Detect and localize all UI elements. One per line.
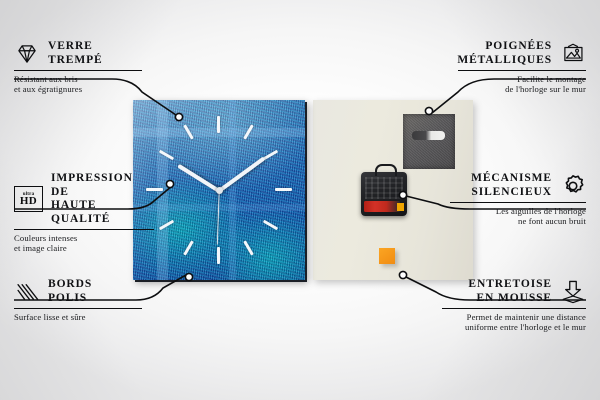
hour-hand [177, 164, 220, 193]
second-hand [216, 191, 219, 245]
callout-mecanisme-silencieux[interactable]: MÉCANISMESILENCIEUX Les aiguilles de l'h… [450, 172, 586, 226]
callout-title: BORDSPOLIS [48, 278, 92, 305]
callout-subtitle: Résistant aux bris et aux égratignures [14, 74, 142, 95]
clock-tick [183, 240, 194, 255]
silent-quartz-mechanism [361, 172, 407, 216]
callout-subtitle: Facilite le montage de l'horloge sur le … [458, 74, 586, 95]
callout-rule [14, 308, 142, 309]
callout-rule [458, 70, 586, 71]
callout-rule [14, 70, 142, 71]
clock-back-panel [313, 100, 473, 280]
clock-tick [243, 124, 254, 139]
hanging-frame-icon [560, 41, 586, 67]
callout-bords-polis[interactable]: BORDSPOLIS Surface lisse et sûre [14, 278, 142, 322]
callout-title: IMPRESSION DEHAUTE QUALITÉ [51, 172, 154, 226]
clock-tick [275, 188, 292, 191]
callout-title: MÉCANISMESILENCIEUX [471, 172, 552, 199]
battery [364, 201, 400, 212]
clock-tick [183, 124, 194, 139]
foam-spacer [379, 248, 395, 264]
metal-hanger-plate [403, 114, 455, 169]
clock-tick [217, 116, 220, 133]
callout-subtitle: Permet de maintenir une distance uniform… [442, 312, 586, 333]
callout-impression-haute-qualite[interactable]: ultra HD IMPRESSION DEHAUTE QUALITÉ Coul… [14, 172, 154, 253]
battery-terminal [397, 203, 404, 211]
callout-subtitle: Couleurs intenses et image claire [14, 233, 154, 254]
callout-title: VERRETREMPÉ [48, 40, 103, 67]
ultra-hd-icon: ultra HD [14, 186, 43, 212]
callout-subtitle: Surface lisse et sûre [14, 312, 142, 322]
callout-rule [450, 202, 586, 203]
clock-tick [159, 220, 174, 231]
arrow-down-into-pad-icon [560, 279, 586, 305]
diamond-icon [14, 41, 40, 67]
callout-title: POIGNÉESMÉTALLIQUES [457, 40, 552, 67]
callout-entretoise-en-mousse[interactable]: ENTRETOISEEN MOUSSE Permet de maintenir … [442, 278, 586, 332]
gear-icon [560, 173, 586, 199]
infographic-canvas: VERRETREMPÉ Résistant aux bris et aux ég… [0, 0, 600, 400]
clock-tick [217, 247, 220, 264]
callout-subtitle: Les aiguilles de l'horloge ne font aucun… [450, 206, 586, 227]
ultra-hd-icon-large-text: HD [20, 196, 37, 207]
clock-tick [263, 220, 278, 231]
clock-center-hub [216, 187, 223, 194]
clock-tick [243, 240, 254, 255]
clock-tick [159, 150, 174, 161]
callout-rule [14, 229, 154, 230]
product-image [133, 100, 473, 280]
callout-poignees-metalliques[interactable]: POIGNÉESMÉTALLIQUES Facilite le montage … [458, 40, 586, 94]
callout-title: ENTRETOISEEN MOUSSE [468, 278, 552, 305]
minute-hand [218, 156, 266, 192]
hanging-loop [375, 164, 397, 176]
mechanism-texture [365, 177, 403, 199]
print-band [229, 100, 236, 280]
keyhole-slot [412, 131, 445, 140]
callout-rule [442, 308, 586, 309]
glass-clock-face [133, 100, 305, 280]
callout-verre-trempe[interactable]: VERRETREMPÉ Résistant aux bris et aux ég… [14, 40, 142, 94]
polished-edge-lines-icon [14, 279, 40, 305]
